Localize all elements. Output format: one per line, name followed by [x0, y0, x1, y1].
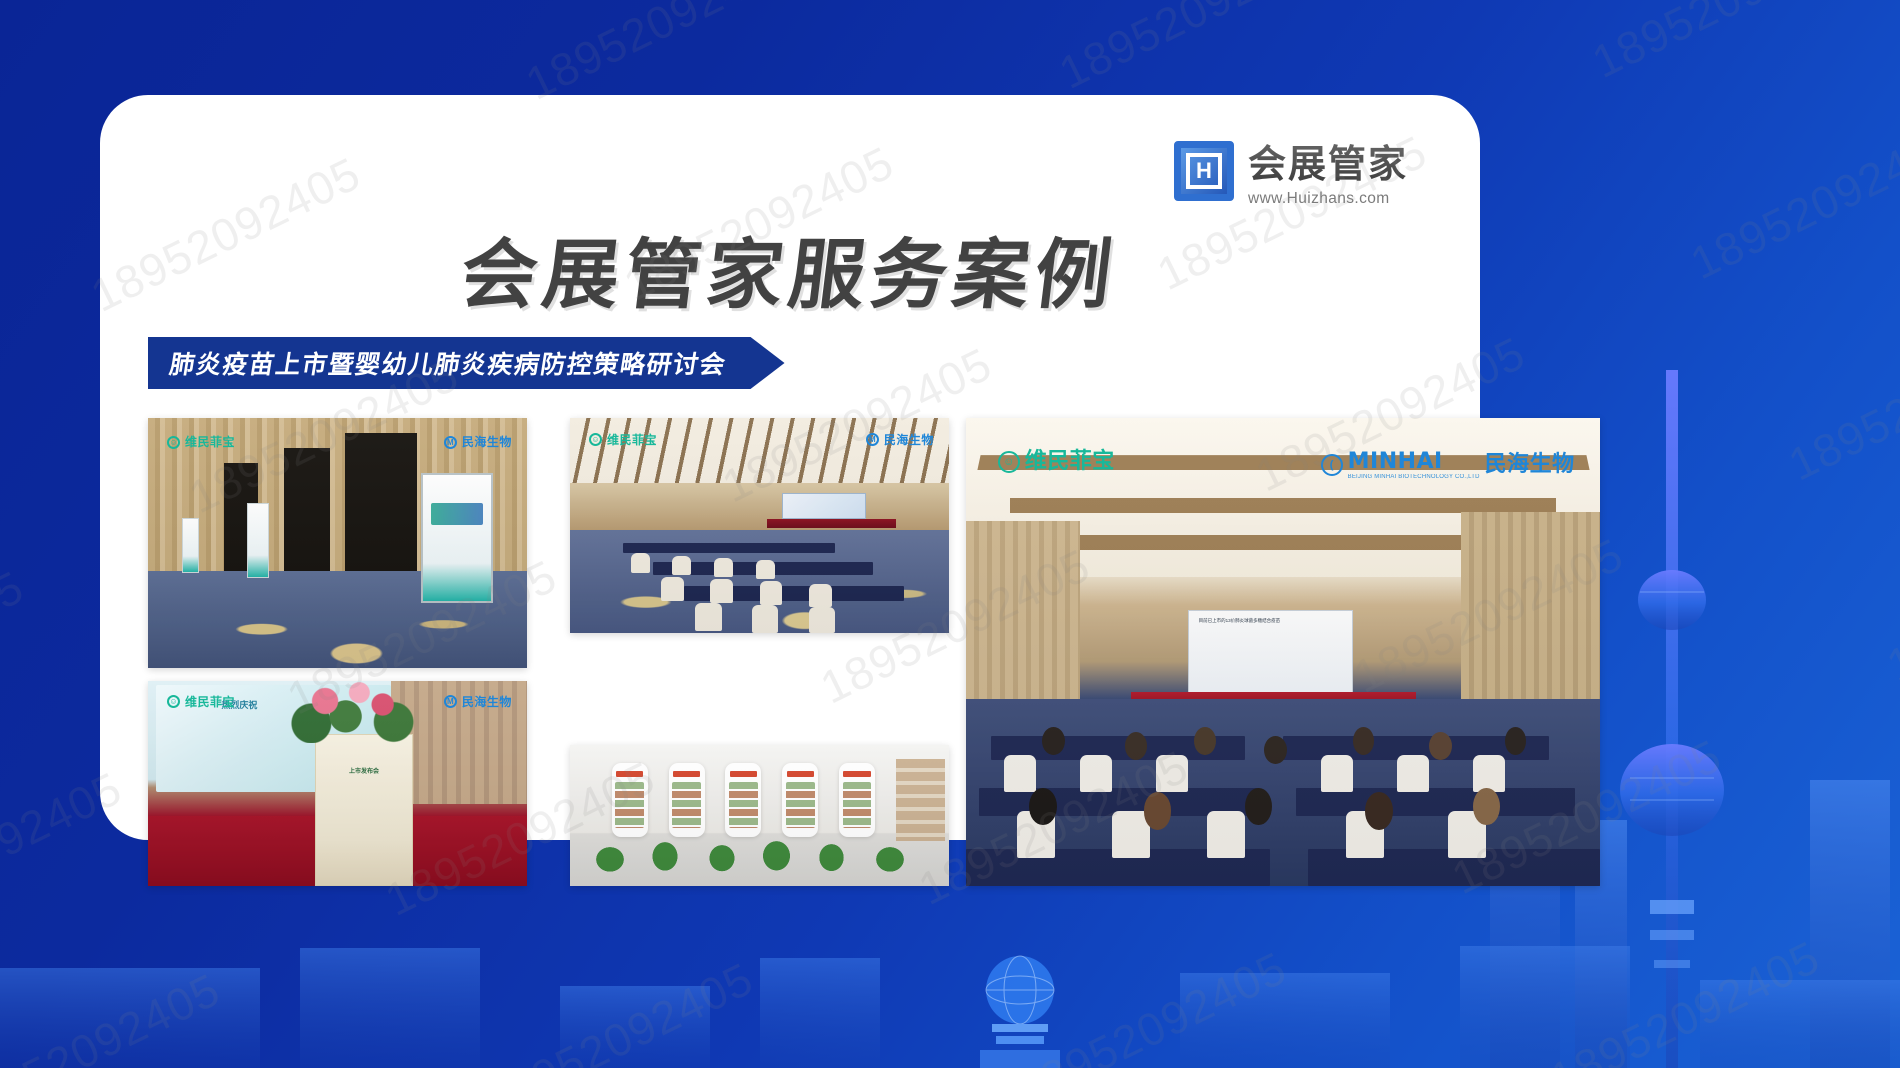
watermark-text: 18952092405 — [1682, 82, 1900, 290]
page-title: 会展管家服务案例 — [93, 213, 1487, 323]
sponsor-green-label: 维民菲宝 — [185, 696, 235, 708]
minhai-icon: M — [444, 695, 457, 708]
skyline-decoration-bottom — [0, 928, 1900, 1068]
sponsor-logo-blue: ( MINHAI BEIJING MINHAI BIOTECHNOLOGY CO… — [1321, 451, 1575, 480]
sponsor-logo-green: ☺ 维民菲宝 — [998, 451, 1115, 473]
watermark-text: 18952092405 — [517, 0, 868, 110]
sponsor-logo-green: ☺ 维民菲宝 — [167, 436, 235, 449]
sponsor-logo-blue: M 民海生物 — [444, 436, 512, 449]
sponsor-blue-label: 民海生物 — [462, 696, 512, 708]
minhai-icon: ( — [1321, 454, 1343, 476]
minhai-text-block: MINHAI BEIJING MINHAI BIOTECHNOLOGY CO.,… — [1348, 451, 1480, 480]
brand-name: 会展管家 — [1248, 133, 1408, 188]
sponsor-blue-label: 民海生物 — [884, 434, 934, 446]
brand-url: www.Huizhans.com — [1248, 190, 1408, 208]
watermark-text: 18952092405 — [1584, 0, 1900, 89]
weiminfeibao-icon: ☺ — [167, 695, 180, 708]
huizhans-logo-icon: H — [1174, 141, 1234, 201]
photo-exhibition-boards[interactable] — [570, 745, 949, 886]
section-banner: 肺炎疫苗上市暨婴幼儿肺炎疾病防控策略研讨会 — [148, 337, 785, 389]
sponsor-logo-green: ☺ 维民菲宝 — [167, 695, 235, 708]
watermark-text: 18952092405 — [1541, 898, 1892, 1068]
photo-audience-hall[interactable]: 目前已上市的13价肺炎球菌多糖结合疫苗 — [966, 418, 1600, 886]
weiminfeibao-icon: ☺ — [998, 451, 1020, 473]
poster-canvas: H 会展管家 www.Huizhans.com 会展管家服务案例 肺炎疫苗上市暨… — [0, 0, 1900, 1068]
brand-logo[interactable]: H 会展管家 www.Huizhans.com — [1174, 133, 1408, 208]
section-banner-label: 肺炎疫苗上市暨婴幼儿肺炎疾病防控策略研讨会 — [167, 345, 729, 381]
minhai-icon: M — [444, 436, 457, 449]
photo-venue-entrance[interactable]: ☺ 维民菲宝 M 民海生物 — [148, 418, 527, 668]
sponsor-logo-blue: M 民海生物 — [866, 433, 934, 446]
weiminfeibao-icon: ☺ — [167, 436, 180, 449]
weiminfeibao-icon: ☺ — [589, 433, 602, 446]
sponsor-blue-subtitle: BEIJING MINHAI BIOTECHNOLOGY CO.,LTD — [1348, 474, 1480, 480]
watermark-text: 18952092405 — [1050, 0, 1401, 100]
sponsor-green-label: 维民菲宝 — [185, 436, 235, 448]
minhai-icon: M — [866, 433, 879, 446]
watermark-text: 18952092405 — [475, 920, 826, 1068]
sponsor-green-label: 维民菲宝 — [607, 434, 657, 446]
sponsor-blue-label: 民海生物 — [462, 436, 512, 448]
watermark-text: 18952092405 — [1780, 283, 1900, 491]
content-card: H 会展管家 www.Huizhans.com 会展管家服务案例 肺炎疫苗上市暨… — [100, 95, 1480, 840]
watermark-text: 18952092405 — [0, 528, 96, 736]
photo-stage-backdrop[interactable]: 热烈庆祝 上市发布会 ☺ 维民菲宝 M 民海生物 — [148, 681, 527, 886]
brand-text-block: 会展管家 www.Huizhans.com — [1248, 133, 1408, 208]
watermark-text: 18952092405 — [1878, 485, 1900, 693]
watermark-text: 18952092405 — [1008, 909, 1359, 1068]
logo-letter: H — [1196, 160, 1212, 182]
sponsor-green-label: 维民菲宝 — [1025, 451, 1115, 473]
sponsor-blue-name-en: MINHAI — [1348, 451, 1480, 473]
photo-empty-ballroom[interactable]: ☺ 维民菲宝 M 民海生物 — [570, 418, 949, 633]
sponsor-logo-blue: M 民海生物 — [444, 695, 512, 708]
watermark-text: 18952092405 — [0, 931, 293, 1068]
sponsor-logo-green: ☺ 维民菲宝 — [589, 433, 657, 446]
sponsor-blue-name-cn: 民海生物 — [1485, 454, 1575, 476]
